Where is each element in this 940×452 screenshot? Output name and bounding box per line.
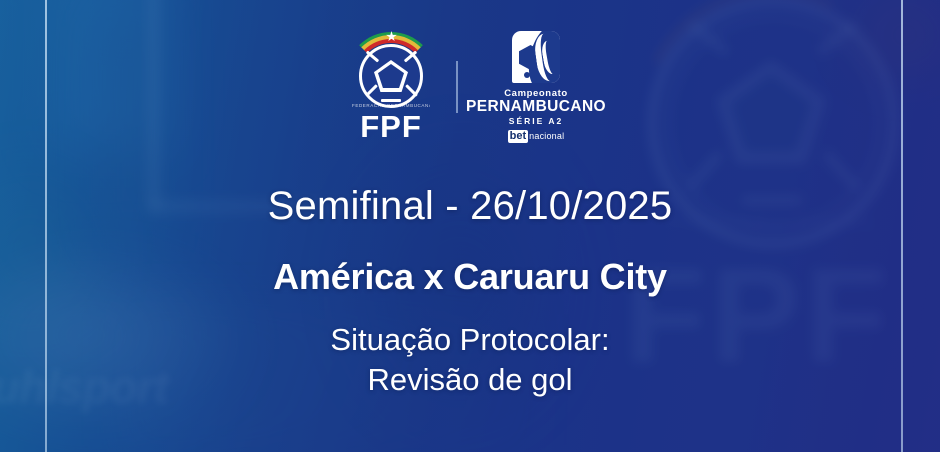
mark-dot-icon <box>524 72 530 78</box>
competition-mark-icon <box>512 31 560 83</box>
ball-seam <box>381 99 401 102</box>
competition-label-pernambucano: PERNAMBUCANO <box>466 99 606 115</box>
content-area: FEDERACAO PERNAMBUCANA DE FUTEBOL FPF Ca… <box>0 0 940 452</box>
match-fixture-title: América x Caruaru City <box>273 256 667 298</box>
protocol-status-block: Situação Protocolar: Revisão de gol <box>330 320 609 399</box>
competition-label-serie: SÉRIE A2 <box>509 116 563 126</box>
match-stage-and-date: Semifinal - 26/10/2025 <box>268 184 673 229</box>
headline-block: Semifinal - 26/10/2025 América x Caruaru… <box>0 146 940 399</box>
sponsor-betnacional-logo: bet nacional <box>508 130 565 143</box>
sponsor-nacional-text: nacional <box>529 131 564 141</box>
logo-divider <box>456 61 458 113</box>
fpf-logo: FEDERACAO PERNAMBUCANA DE FUTEBOL FPF <box>348 31 434 143</box>
campeonato-pernambucano-logo: Campeonato PERNAMBUCANO SÉRIE A2 bet nac… <box>480 31 592 143</box>
logo-lockup-row: FEDERACAO PERNAMBUCANA DE FUTEBOL FPF Ca… <box>348 28 592 146</box>
sponsor-bet-text: bet <box>508 130 529 143</box>
fpf-wordmark: FPF <box>348 111 434 142</box>
match-status-graphic: uhlsport PERNAMBUCANA DE FPF <box>0 0 940 452</box>
protocol-status-value: Revisão de gol <box>330 360 609 400</box>
protocol-status-label: Situação Protocolar: <box>330 320 609 360</box>
fpf-circular-text: FEDERACAO PERNAMBUCANA DE FUTEBOL <box>352 103 430 108</box>
